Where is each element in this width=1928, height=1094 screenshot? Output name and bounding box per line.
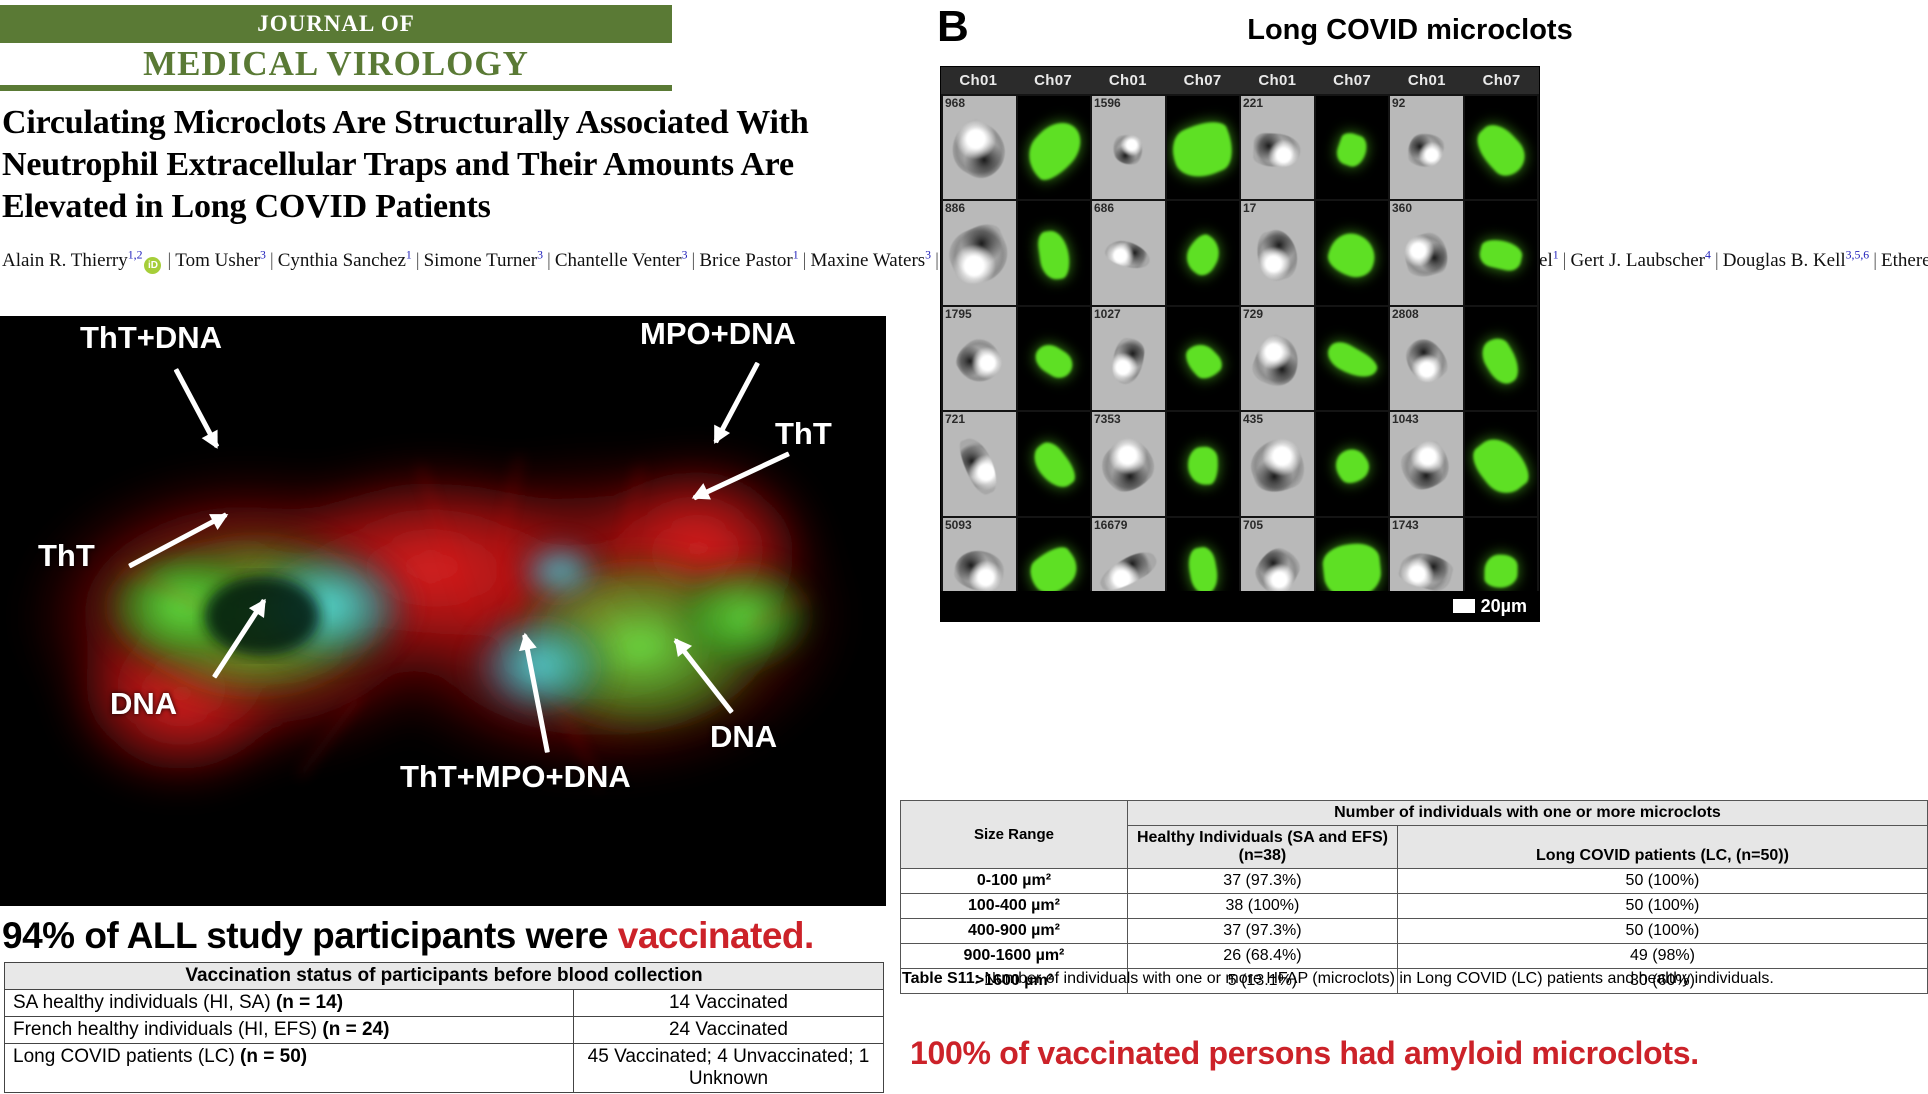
author-separator: | [412, 250, 424, 271]
fluorescent-microclot-blob [1323, 336, 1381, 385]
brightfield-microclot-blob [955, 434, 1003, 499]
table-row: 0-100 µm²37 (97.3%)50 (100%) [901, 869, 1928, 894]
cell-image-brightfield: 1795 [943, 307, 1016, 410]
cell-image-fluorescence [1167, 307, 1240, 410]
table-caption-label: Table S11: [902, 970, 980, 987]
author-list: Alain R. Thierry1,2iD|Tom Usher3|Cynthia… [2, 248, 892, 274]
fluorescent-microclot-blob [1187, 446, 1219, 485]
brightfield-microclot-blob [1253, 132, 1301, 167]
channel-label: Ch07 [1165, 67, 1240, 94]
cell-image-brightfield: 17 [1241, 201, 1314, 304]
cell-id-label: 729 [1243, 307, 1263, 321]
table-caption-text: Number of individuals with one or more H… [980, 970, 1774, 987]
micrograph-canvas [0, 316, 886, 906]
cell-id-label: 721 [945, 412, 965, 426]
micrograph-label: DNA [110, 686, 177, 722]
right-column: B Long COVID microclots Ch01Ch07Ch01Ch07… [900, 0, 1928, 1094]
cell-id-label: 705 [1243, 518, 1263, 532]
cell-image-fluorescence [1167, 412, 1240, 515]
vaccination-status-value: 24 Vaccinated [574, 1017, 884, 1044]
table-caption: Table S11: Number of individuals with on… [902, 968, 1924, 990]
cell-image-brightfield: 360 [1390, 201, 1463, 304]
table-row: 900-1600 µm²26 (68.4%)49 (98%) [901, 944, 1928, 969]
group-count: (n = 14) [276, 992, 343, 1013]
brightfield-microclot-blob [1103, 235, 1154, 276]
channel-label: Ch07 [1315, 67, 1390, 94]
channel-label: Ch01 [1091, 67, 1166, 94]
channel-header-row: Ch01Ch07Ch01Ch07Ch01Ch07Ch01Ch07 [941, 67, 1539, 94]
lc-count-cell: 49 (98%) [1397, 944, 1927, 969]
fluorescent-microclot-blob [1324, 228, 1380, 282]
fluorescent-microclot-blob [1329, 443, 1374, 488]
cell-image-fluorescence [1465, 96, 1538, 199]
brightfield-microclot-blob [1111, 336, 1146, 386]
healthy-count-cell: 38 (100%) [1127, 894, 1397, 919]
table-row: 400-900 µm²37 (97.3%)50 (100%) [901, 919, 1928, 944]
fluorescent-microclot-blob [1167, 114, 1240, 185]
author-affiliation-marker: 1 [793, 249, 799, 262]
cell-id-label: 7353 [1094, 412, 1121, 426]
brightfield-microclot-blob [950, 331, 1008, 389]
cell-image-brightfield: 886 [943, 201, 1016, 304]
cell-image-brightfield: 968 [943, 96, 1016, 199]
cell-image-brightfield: 729 [1241, 307, 1314, 410]
author-entry: Simone Turner3 [424, 250, 543, 271]
fluorescent-microclot-blob [1179, 337, 1226, 384]
healthy-count-cell: 37 (97.3%) [1127, 919, 1397, 944]
table-row: Long COVID patients (LC) (n = 50)45 Vacc… [5, 1044, 884, 1093]
author-affiliation-marker: 1,2 [128, 249, 143, 262]
scale-bar-label: 20µm [1481, 596, 1527, 617]
cell-id-label: 17 [1243, 201, 1256, 215]
brightfield-microclot-blob [1093, 431, 1164, 502]
brightfield-microclot-blob [1095, 546, 1161, 597]
lc-count-cell: 50 (100%) [1397, 869, 1927, 894]
cell-image-brightfield: 2808 [1390, 307, 1463, 410]
micrograph-label: ThT [775, 416, 832, 452]
size-range-cell: 400-900 µm² [901, 919, 1128, 944]
figure-page: JOURNAL OF MEDICAL VIROLOGY Circulating … [0, 0, 1928, 1094]
vaccination-group-label: SA healthy individuals (HI, SA) (n = 14) [5, 990, 574, 1017]
author-entry: Cynthia Sanchez1 [278, 250, 412, 271]
statement-94-prefix: 94% of ALL study participants were [2, 915, 618, 956]
author-name: Simone Turner [424, 250, 538, 271]
fluorescent-microclot-blob [1179, 230, 1226, 280]
channel-label: Ch07 [1016, 67, 1091, 94]
cell-id-label: 1043 [1392, 412, 1419, 426]
brightfield-microclot-blob [1397, 548, 1456, 594]
brightfield-microclot-blob [1398, 332, 1455, 389]
cell-image-fluorescence [1316, 201, 1389, 304]
fluorescent-microclot-blob [1018, 113, 1091, 187]
scale-bar: 20µm [941, 591, 1539, 621]
cell-id-label: 968 [945, 96, 965, 110]
size-range-header: Size Range [901, 801, 1128, 869]
lc-column-header: Long COVID patients (LC, (n=50)) [1397, 826, 1927, 869]
author-entry: Chantelle Venter3 [555, 250, 688, 271]
brightfield-microclot-blob [1252, 226, 1303, 285]
cell-image-brightfield: 92 [1390, 96, 1463, 199]
article-title: Circulating Microclots Are Structurally … [2, 102, 888, 227]
brightfield-microclot-blob [1244, 433, 1310, 498]
author-separator: | [163, 250, 175, 271]
micrograph-label: MPO+DNA [640, 316, 796, 352]
group-name: SA healthy individuals (HI, SA) [13, 992, 276, 1013]
cell-image-fluorescence [1316, 307, 1389, 410]
journal-banner-bar: JOURNAL OF [0, 5, 672, 43]
group-count: (n = 24) [322, 1019, 389, 1040]
statement-94-percent: 94% of ALL study participants were vacci… [2, 915, 888, 957]
cell-id-label: 5093 [945, 518, 972, 532]
author-affiliation-marker: 3 [682, 249, 688, 262]
author-name: Tom Usher [175, 250, 260, 271]
cell-id-label: 1795 [945, 307, 972, 321]
cell-image-fluorescence [1316, 412, 1389, 515]
brightfield-microclot-blob [1112, 133, 1145, 166]
author-separator: | [688, 250, 700, 271]
fluorescent-microclot-blob [1027, 437, 1080, 494]
author-name: Cynthia Sanchez [278, 250, 406, 271]
cell-image-brightfield: 1027 [1092, 307, 1165, 410]
brightfield-microclot-blob [943, 114, 1016, 186]
cell-image-fluorescence [1465, 307, 1538, 410]
cell-id-label: 1596 [1094, 96, 1121, 110]
cell-id-label: 2808 [1392, 307, 1419, 321]
table-row: French healthy individuals (HI, EFS) (n … [5, 1017, 884, 1044]
cell-image-brightfield: 221 [1241, 96, 1314, 199]
author-entry: Alain R. Thierry1,2iD [2, 250, 163, 271]
microclot-size-range-table: Size Range Number of individuals with on… [900, 800, 1928, 994]
cell-image-fluorescence [1018, 96, 1091, 199]
author-name: Alain R. Thierry [2, 250, 128, 271]
lc-count-cell: 50 (100%) [1397, 894, 1927, 919]
cell-image-fluorescence [1316, 96, 1389, 199]
cell-image-fluorescence [1465, 412, 1538, 515]
cell-image-grid: 9681596221928866861736017951027729280872… [941, 94, 1539, 622]
cell-id-label: 435 [1243, 412, 1263, 426]
journal-name-line1: JOURNAL OF [257, 11, 415, 37]
cell-image-fluorescence [1465, 201, 1538, 304]
cell-image-fluorescence [1167, 201, 1240, 304]
vaccination-status-value: 45 Vaccinated; 4 Unvaccinated; 1 Unknown [574, 1044, 884, 1093]
scale-bar-box [1453, 599, 1475, 613]
cell-image-fluorescence [1018, 307, 1091, 410]
brightfield-microclot-blob [953, 549, 1006, 594]
brightfield-microclot-blob [1249, 330, 1306, 391]
table-row: 100-400 µm²38 (100%)50 (100%) [901, 894, 1928, 919]
group-name: French healthy individuals (HI, EFS) [13, 1019, 322, 1040]
healthy-count-cell: 26 (68.4%) [1127, 944, 1397, 969]
fluorescent-microclot-blob [1466, 430, 1536, 502]
table-header-row: Vaccination status of participants befor… [5, 963, 884, 990]
author-name: Brice Pastor [699, 250, 792, 271]
table-row: SA healthy individuals (HI, SA) (n = 14)… [5, 990, 884, 1017]
author-entry: Tom Usher3 [175, 250, 266, 271]
journal-banner: JOURNAL OF MEDICAL VIROLOGY [0, 5, 672, 91]
author-separator: | [543, 250, 555, 271]
micrograph-label: ThT+DNA [80, 320, 222, 356]
micrograph-label: ThT+MPO+DNA [400, 759, 631, 795]
statement-100-percent: 100% of vaccinated persons had amyloid m… [910, 1035, 1928, 1072]
vaccination-group-label: French healthy individuals (HI, EFS) (n … [5, 1017, 574, 1044]
author-affiliation-marker: 3 [260, 249, 266, 262]
cell-image-brightfield: 435 [1241, 412, 1314, 515]
fluorescent-microclot-blob [1185, 546, 1220, 597]
channel-label: Ch01 [941, 67, 1016, 94]
cell-id-label: 16679 [1094, 518, 1127, 532]
size-range-cell: 0-100 µm² [901, 869, 1128, 894]
cell-image-brightfield: 1043 [1390, 412, 1463, 515]
fluorescent-microclot-blob [1333, 130, 1370, 169]
healthy-column-header: Healthy Individuals (SA and EFS) (n=38) [1127, 826, 1397, 869]
panel-letter-b: B [937, 2, 969, 52]
vaccination-status-value: 14 Vaccinated [574, 990, 884, 1017]
cell-image-fluorescence [1167, 96, 1240, 199]
group-name: Long COVID patients (LC) [13, 1046, 240, 1067]
channel-label: Ch01 [1390, 67, 1465, 94]
lc-count-cell: 50 (100%) [1397, 919, 1927, 944]
brightfield-microclot-blob [1394, 434, 1458, 497]
panel-b-title: Long COVID microclots [1060, 14, 1760, 47]
vaccination-group-label: Long COVID patients (LC) (n = 50) [5, 1044, 574, 1093]
cell-id-label: 221 [1243, 96, 1263, 110]
table-header-row-group: Size Range Number of individuals with on… [901, 801, 1928, 826]
cell-image-brightfield: 7353 [1092, 412, 1165, 515]
size-range-cell: 900-1600 µm² [901, 944, 1128, 969]
fluorescent-microclot-blob [1484, 554, 1518, 588]
brightfield-microclot-blob [1408, 133, 1445, 167]
author-name: Chantelle Venter [555, 250, 682, 271]
orcid-icon[interactable]: iD [144, 257, 161, 274]
author-affiliation-marker: 1 [406, 249, 412, 262]
cell-id-label: 92 [1392, 96, 1405, 110]
fluorescent-microclot-blob [1469, 117, 1533, 182]
left-column: JOURNAL OF MEDICAL VIROLOGY Circulating … [0, 0, 890, 1094]
group-count: (n = 50) [240, 1046, 307, 1067]
author-separator: | [266, 250, 278, 271]
cell-id-label: 1743 [1392, 518, 1419, 532]
micrograph-label: ThT [38, 538, 95, 574]
fluorescent-microclot-blob [1477, 237, 1524, 274]
cell-image-brightfield: 1596 [1092, 96, 1165, 199]
cell-image-brightfield: 686 [1092, 201, 1165, 304]
cell-image-brightfield: 721 [943, 412, 1016, 515]
cell-id-label: 1027 [1094, 307, 1121, 321]
fluorescent-microclot-blob [1030, 339, 1078, 383]
author-entry: Brice Pastor1 [699, 250, 798, 271]
group-header: Number of individuals with one or more m… [1127, 801, 1927, 826]
channel-label: Ch01 [1240, 67, 1315, 94]
fluorescent-microclot-blob [1476, 333, 1525, 388]
brightfield-microclot-blob [943, 219, 1016, 291]
cell-id-label: 686 [1094, 201, 1114, 215]
statement-94-highlight: vaccinated. [618, 915, 814, 956]
cell-image-fluorescence [1018, 412, 1091, 515]
size-range-cell: 100-400 µm² [901, 894, 1128, 919]
fluorescent-microclot-blob [1036, 229, 1071, 281]
author-separator: | [799, 250, 811, 271]
cell-image-fluorescence [1018, 201, 1091, 304]
brightfield-microclot-blob [1400, 229, 1452, 281]
healthy-count-cell: 37 (97.3%) [1127, 869, 1397, 894]
cell-id-label: 360 [1392, 201, 1412, 215]
fluorescence-micrograph: ThT+DNA MPO+DNA ThT ThT DNA ThT+MPO+DNA … [0, 316, 886, 906]
vaccination-status-table: Vaccination status of participants befor… [4, 962, 884, 1093]
channel-label: Ch07 [1464, 67, 1539, 94]
cell-id-label: 886 [945, 201, 965, 215]
journal-name-line2: MEDICAL VIROLOGY [0, 43, 672, 85]
imaging-flow-cytometry-montage: Ch01Ch07Ch01Ch07Ch01Ch07Ch01Ch07 9681596… [940, 66, 1540, 622]
journal-banner-rule [0, 85, 672, 91]
vaccination-table-title: Vaccination status of participants befor… [5, 963, 884, 990]
micrograph-label: DNA [710, 719, 777, 755]
